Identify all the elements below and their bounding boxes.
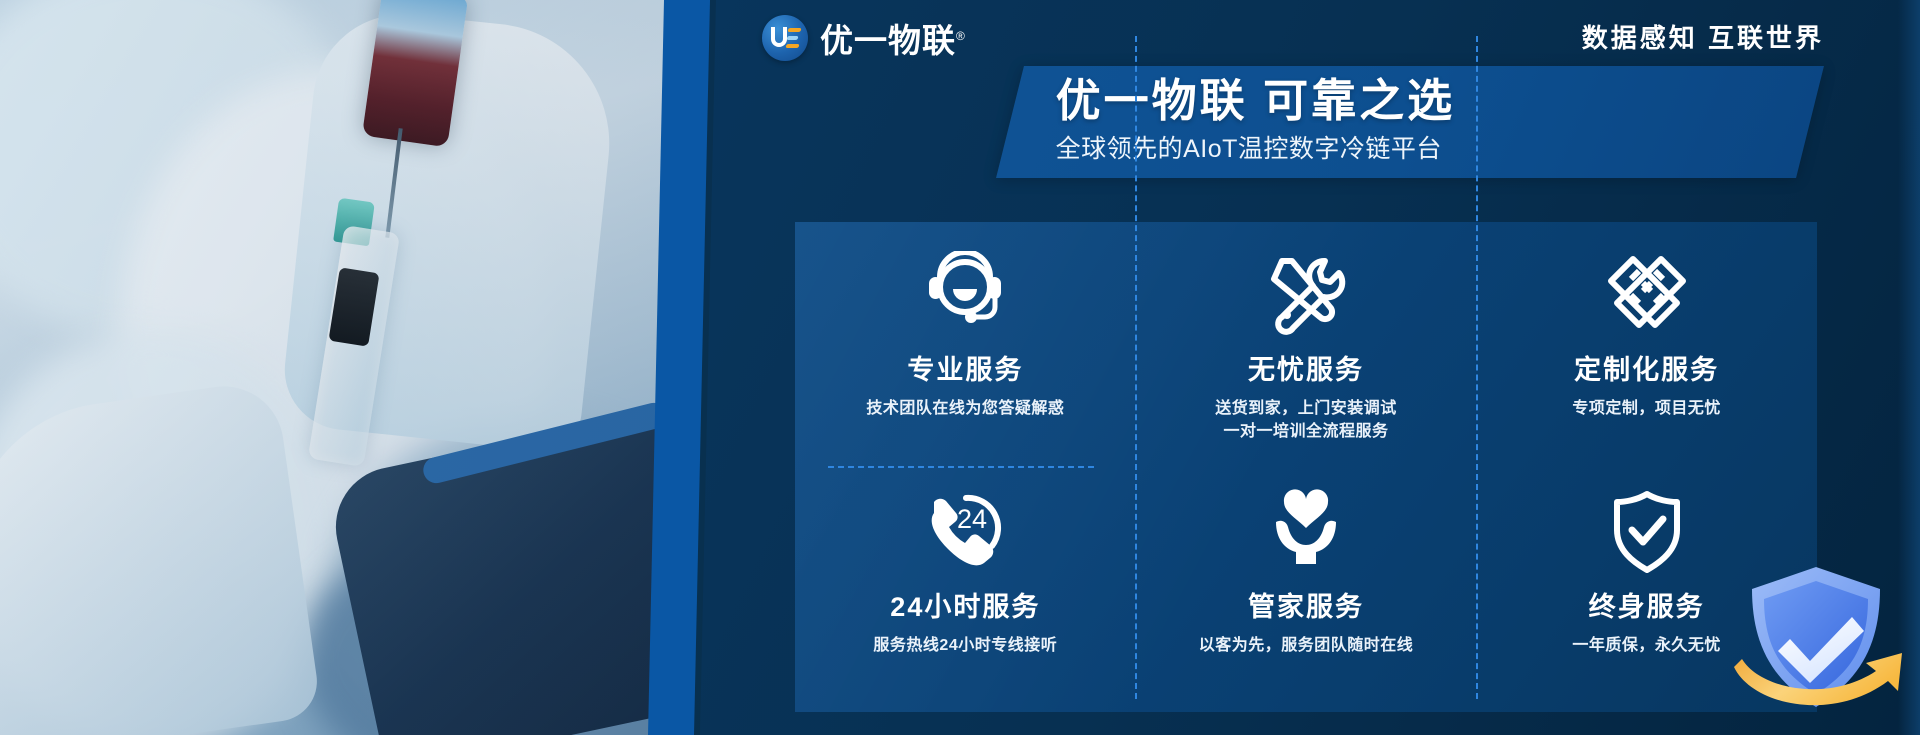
card-title: 24小时服务 xyxy=(890,585,1040,624)
svg-text:24: 24 xyxy=(957,504,987,534)
wrench-screwdriver-tools-icon xyxy=(1262,248,1350,340)
hands-holding-heart-icon xyxy=(1262,485,1350,577)
service-card-customized[interactable]: 定制化服务 专项定制，项目无忧 xyxy=(1476,222,1817,467)
card-description-line1: 送货到家，上门安装调试 xyxy=(1215,400,1397,417)
ruler-pencil-custom-icon xyxy=(1603,248,1691,340)
shield-check-icon xyxy=(1603,485,1691,577)
card-title: 无忧服务 xyxy=(1248,348,1364,387)
banner-subtitle: 全球领先的AIoT温控数字冷链平台 xyxy=(1056,129,1812,165)
ue-circle-logo-icon xyxy=(762,15,808,61)
card-divider-vertical-2 xyxy=(1476,36,1478,699)
card-divider-vertical-1 xyxy=(1135,36,1137,699)
card-description: 一年质保，永久无忧 xyxy=(1572,634,1721,657)
card-description: 以客为先，服务团队随时在线 xyxy=(1199,634,1414,657)
card-title: 专业服务 xyxy=(907,348,1023,387)
phone-24h-icon: 24 xyxy=(920,485,1010,577)
card-description-line1: 以客为先，服务团队随时在线 xyxy=(1199,637,1414,654)
card-description-line1: 专项定制，项目无忧 xyxy=(1572,400,1721,417)
registered-mark: ® xyxy=(956,29,966,43)
card-title: 定制化服务 xyxy=(1574,348,1719,387)
card-title: 终身服务 xyxy=(1589,585,1705,624)
hero-photo xyxy=(0,0,700,735)
card-description-line1: 一年质保，永久无忧 xyxy=(1572,637,1721,654)
header-slogan: 数据感知 互联世界 xyxy=(1582,18,1824,55)
card-description-line2: 一对一培训全流程服务 xyxy=(1215,420,1397,443)
service-card-professional[interactable]: 专业服务 技术团队在线为您答疑解惑 xyxy=(795,222,1136,467)
title-banner: 优一物联 可靠之选 全球领先的AIoT温控数字冷链平台 xyxy=(996,66,1824,178)
banner-page: 优一物联® 数据感知 互联世界 优一物联 可靠之选 全球领先的AIoT温控数字冷… xyxy=(0,0,1920,735)
brand-logo[interactable]: 优一物联® xyxy=(762,14,966,62)
banner-title: 优一物联 可靠之选 xyxy=(1056,74,1812,127)
service-card-butler[interactable]: 管家服务 以客为先，服务团队随时在线 xyxy=(1136,467,1477,712)
card-title: 管家服务 xyxy=(1248,585,1364,624)
brand-name-text: 优一物联 xyxy=(820,22,956,59)
card-description-line1: 技术团队在线为您答疑解惑 xyxy=(866,400,1064,417)
brand-name: 优一物联® xyxy=(820,14,966,62)
card-description: 技术团队在线为您答疑解惑 xyxy=(866,397,1064,420)
card-description-line1: 服务热线24小时专线接听 xyxy=(873,637,1057,654)
card-description: 服务热线24小时专线接听 xyxy=(873,634,1057,657)
headset-support-icon xyxy=(921,248,1009,340)
service-card-24h[interactable]: 24 24小时服务 服务热线24小时专线接听 xyxy=(795,467,1136,712)
3d-shield-check-with-gold-arrow-icon xyxy=(1712,555,1920,735)
card-description: 送货到家，上门安装调试 一对一培训全流程服务 xyxy=(1215,397,1397,443)
service-card-worryfree[interactable]: 无忧服务 送货到家，上门安装调试 一对一培训全流程服务 xyxy=(1136,222,1477,467)
card-description: 专项定制，项目无忧 xyxy=(1572,397,1721,420)
card-divider-horizontal xyxy=(828,466,1094,468)
page-header: 优一物联® 数据感知 互联世界 xyxy=(0,0,1920,72)
